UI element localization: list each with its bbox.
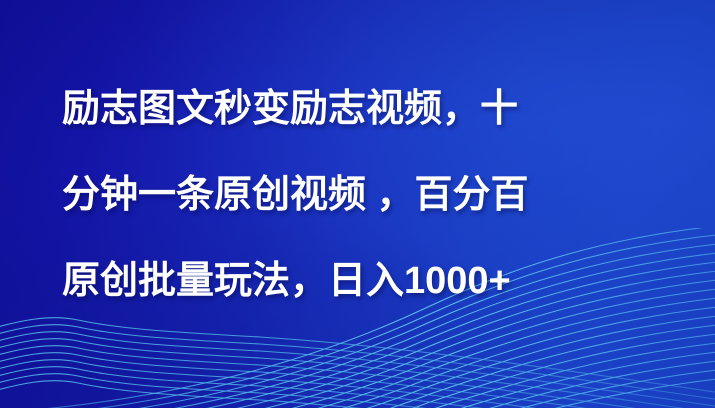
headline-text-block: 励志图文秒变励志视频，十 分钟一条原创视频 ，百分百 原创批量玩法，日入1000… — [62, 66, 688, 324]
promo-banner: 励志图文秒变励志视频，十 分钟一条原创视频 ，百分百 原创批量玩法，日入1000… — [0, 0, 715, 408]
headline-line-2: 分钟一条原创视频 ，百分百 — [62, 152, 688, 238]
headline-line-1: 励志图文秒变励志视频，十 — [62, 66, 688, 152]
headline-line-3: 原创批量玩法，日入1000+ — [62, 238, 688, 324]
